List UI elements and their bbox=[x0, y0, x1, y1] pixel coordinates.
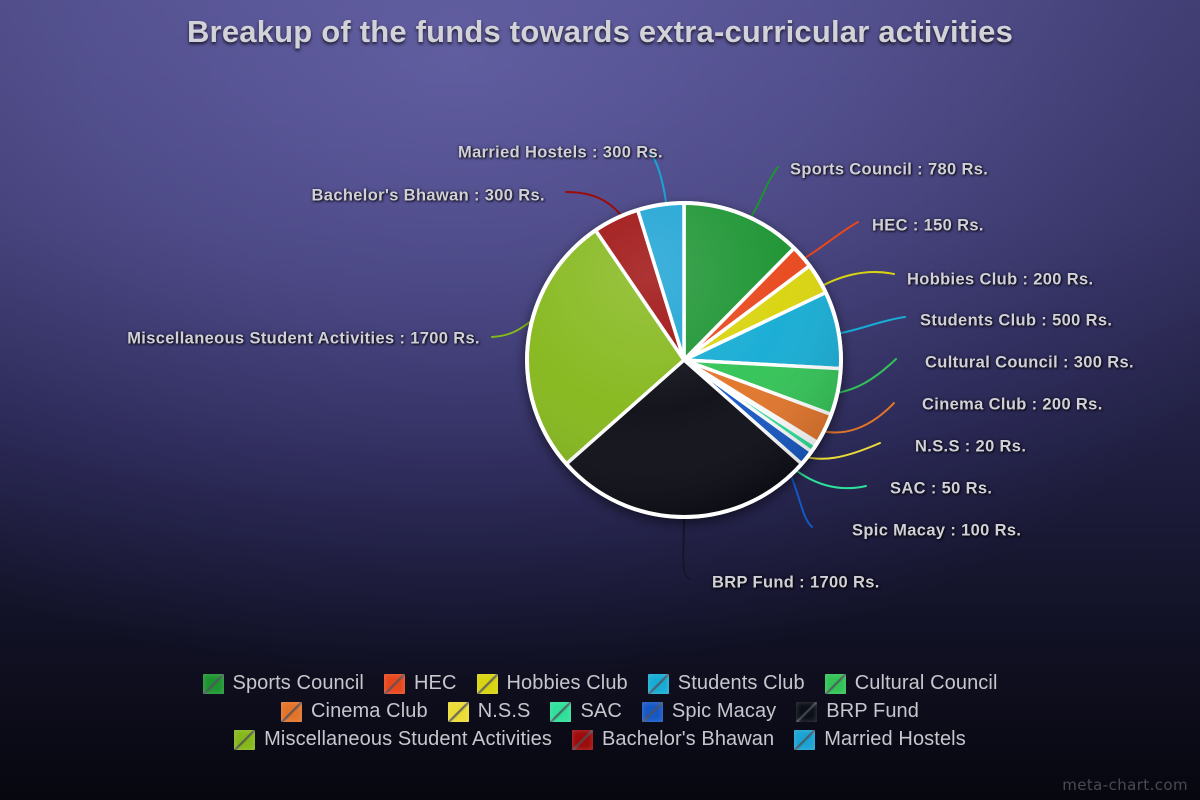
legend-item-label: Bachelor's Bhawan bbox=[602, 728, 774, 751]
slice-callout-label: N.S.S : 20 Rs. bbox=[915, 438, 1026, 457]
legend-color-swatch bbox=[234, 730, 255, 750]
legend-item-label: N.S.S bbox=[478, 700, 531, 723]
chart-legend: Sports CouncilHECHobbies ClubStudents Cl… bbox=[0, 672, 1200, 751]
slice-callout-label: Spic Macay : 100 Rs. bbox=[852, 522, 1021, 541]
legend-item[interactable]: Miscellaneous Student Activities bbox=[234, 728, 552, 751]
slice-callout-label: HEC : 150 Rs. bbox=[872, 217, 984, 236]
legend-color-swatch bbox=[448, 702, 469, 722]
legend-item-label: Cinema Club bbox=[311, 700, 428, 723]
legend-color-swatch bbox=[796, 702, 817, 722]
legend-item-label: BRP Fund bbox=[826, 700, 919, 723]
slice-callout-label: Cultural Council : 300 Rs. bbox=[925, 354, 1134, 373]
legend-item-label: Sports Council bbox=[233, 672, 364, 695]
legend-color-swatch bbox=[203, 674, 224, 694]
slice-callout-label: Miscellaneous Student Activities : 1700 … bbox=[127, 330, 480, 349]
legend-item-label: Hobbies Club bbox=[507, 672, 628, 695]
legend-color-swatch bbox=[825, 674, 846, 694]
legend-item[interactable]: Students Club bbox=[648, 672, 805, 695]
legend-item-label: SAC bbox=[580, 700, 621, 723]
legend-item-label: Cultural Council bbox=[855, 672, 998, 695]
legend-row: Sports CouncilHECHobbies ClubStudents Cl… bbox=[193, 672, 1008, 695]
legend-row: Cinema ClubN.S.SSACSpic MacayBRP Fund bbox=[271, 700, 929, 723]
legend-item-label: Spic Macay bbox=[672, 700, 776, 723]
legend-item[interactable]: Cultural Council bbox=[825, 672, 998, 695]
legend-item[interactable]: HEC bbox=[384, 672, 457, 695]
legend-color-swatch bbox=[572, 730, 593, 750]
legend-item[interactable]: SAC bbox=[550, 700, 621, 723]
slice-callout-label: Students Club : 500 Rs. bbox=[920, 312, 1112, 331]
watermark: meta-chart.com bbox=[1062, 776, 1188, 794]
legend-item[interactable]: Married Hostels bbox=[794, 728, 966, 751]
legend-item[interactable]: Bachelor's Bhawan bbox=[572, 728, 774, 751]
legend-item[interactable]: BRP Fund bbox=[796, 700, 919, 723]
legend-color-swatch bbox=[384, 674, 405, 694]
slice-callout-label: Bachelor's Bhawan : 300 Rs. bbox=[312, 187, 545, 206]
legend-color-swatch bbox=[550, 702, 571, 722]
legend-item[interactable]: Hobbies Club bbox=[477, 672, 628, 695]
legend-color-swatch bbox=[281, 702, 302, 722]
slice-callout-label: Cinema Club : 200 Rs. bbox=[922, 396, 1103, 415]
legend-item[interactable]: Cinema Club bbox=[281, 700, 428, 723]
legend-item[interactable]: Spic Macay bbox=[642, 700, 776, 723]
legend-item-label: Miscellaneous Student Activities bbox=[264, 728, 552, 751]
slice-callout-label: Married Hostels : 300 Rs. bbox=[458, 144, 663, 163]
slice-callout-label: Hobbies Club : 200 Rs. bbox=[907, 271, 1094, 290]
legend-color-swatch bbox=[477, 674, 498, 694]
slice-callout-label: BRP Fund : 1700 Rs. bbox=[712, 574, 880, 593]
legend-item[interactable]: N.S.S bbox=[448, 700, 531, 723]
legend-color-swatch bbox=[648, 674, 669, 694]
legend-item-label: HEC bbox=[414, 672, 457, 695]
slice-callout-label: Sports Council : 780 Rs. bbox=[790, 161, 988, 180]
slice-callout-label: SAC : 50 Rs. bbox=[890, 480, 992, 499]
legend-row: Miscellaneous Student ActivitiesBachelor… bbox=[224, 728, 976, 751]
legend-item-label: Married Hostels bbox=[824, 728, 966, 751]
legend-item[interactable]: Sports Council bbox=[203, 672, 364, 695]
legend-item-label: Students Club bbox=[678, 672, 805, 695]
legend-color-swatch bbox=[794, 730, 815, 750]
pie-chart-page: Breakup of the funds towards extra-curri… bbox=[0, 0, 1200, 800]
legend-color-swatch bbox=[642, 702, 663, 722]
